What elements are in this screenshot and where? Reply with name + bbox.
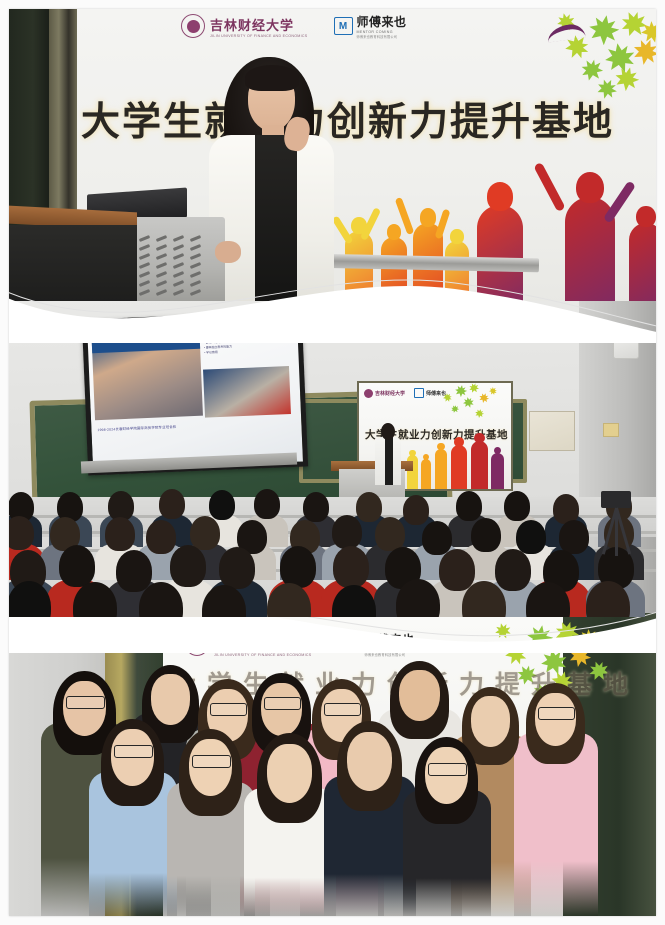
- group-member-face: [267, 744, 312, 803]
- eyeglasses-icon: [66, 696, 105, 709]
- eyeglasses-icon: [114, 745, 153, 759]
- maple-leaf-icon: [474, 408, 485, 419]
- university-name-en: JILIN UNIVERSITY OF FINANCE AND ECONOMIC…: [210, 34, 308, 38]
- maple-leaf-icon: [454, 384, 468, 398]
- maple-leaf-icon: [493, 621, 513, 641]
- eyeglasses-icon: [324, 703, 362, 716]
- audience-member-head: [254, 489, 280, 519]
- partner-logo: M 师傅来也 MENTOR COMING 师傅来也教育科技有限公司: [334, 13, 407, 39]
- eyeglasses-icon: [192, 755, 231, 769]
- banner-logo-row: 吉林财经大学 JILIN UNIVERSITY OF FINANCE AND E…: [181, 13, 407, 39]
- maple-leaf-icon: [525, 623, 555, 653]
- panel2-university-name: 吉林财经大学: [375, 390, 405, 397]
- panel3-university-name-en: JILIN UNIVERSITY OF FINANCE AND ECONOMIC…: [214, 653, 312, 657]
- panel2-photo: • 做自己喜欢的工作• 要有正确的定位• 在工作中不断提升自己的能力• 要有广泛…: [9, 301, 656, 617]
- audience-member-head: [403, 495, 429, 525]
- partner-mark-icon: M: [334, 17, 353, 35]
- silhouette-head: [487, 182, 513, 211]
- audience-member-head: [439, 549, 475, 591]
- audience-member-head: [105, 517, 135, 551]
- panel3-partner-subtitle-cn: 师傅来也教育科技有限公司: [365, 652, 415, 657]
- panel2-speaker-head: [381, 423, 395, 440]
- slide-bullet-list: • 做自己喜欢的工作• 要有正确的定位• 在工作中不断提升自己的能力• 要有广泛…: [203, 321, 290, 356]
- audience-member-head: [209, 490, 235, 520]
- silhouette-head: [636, 206, 655, 227]
- audience-member-head: [471, 518, 501, 552]
- speaker-black-top: [255, 135, 297, 309]
- speaker-hand-lower: [215, 241, 241, 263]
- panel2-silhouette-head: [409, 450, 416, 457]
- photo-panel-group: 吉林财经大学 JILIN UNIVERSITY OF FINANCE AND E…: [9, 613, 656, 916]
- silhouette-head: [420, 208, 437, 227]
- panel2-partner-mark-icon: [414, 388, 424, 398]
- panel1-photo: 吉林财经大学 JILIN UNIVERSITY OF FINANCE AND E…: [9, 9, 656, 309]
- panel2-silhouette-head: [437, 443, 444, 450]
- group-member-face: [347, 732, 392, 791]
- panel3-partner-name-cn: 师傅来也: [365, 631, 415, 648]
- maple-leaf-icon: [501, 639, 532, 670]
- maple-leaf-icon: [487, 385, 498, 396]
- panel3-partner-mark-icon: M: [342, 635, 361, 653]
- video-camera-icon: [601, 491, 631, 508]
- audience-member-head: [146, 520, 176, 554]
- banner-headline: 大学生就业力创新力提升基地: [81, 101, 656, 145]
- panel3-photo: 吉林财经大学 JILIN UNIVERSITY OF FINANCE AND E…: [9, 613, 656, 916]
- audience-member-head: [516, 520, 546, 554]
- panel3-university-seal-icon: [185, 632, 209, 656]
- slide-caption: 1998-2024长春财经学院国际商贸学院专业班合影: [97, 424, 176, 432]
- audience-member-head: [559, 520, 589, 554]
- audience-member-head: [159, 489, 185, 519]
- audience-member-head: [303, 492, 329, 522]
- panel2-silhouette-head: [474, 433, 484, 443]
- audience-member-head: [116, 550, 152, 592]
- maple-leaf-icon: [575, 625, 603, 653]
- audience-member-head: [333, 546, 369, 588]
- panel3-banner-logos: 吉林财经大学 JILIN UNIVERSITY OF FINANCE AND E…: [185, 631, 415, 657]
- audience-member-head: [456, 491, 482, 521]
- audience-member-head: [422, 521, 452, 555]
- panel2-wall-light-icon: [603, 423, 619, 437]
- photo-panel-speaker: 吉林财经大学 JILIN UNIVERSITY OF FINANCE AND E…: [9, 9, 656, 309]
- maple-leaf-icon: [551, 617, 583, 649]
- panel2-partner-name: 师傅来也: [426, 390, 446, 397]
- university-seal-icon: [181, 14, 205, 38]
- audience-member-head: [375, 517, 405, 551]
- panel2-audience: [9, 471, 656, 617]
- slide-photo-banner: [92, 338, 200, 354]
- audience-member-head: [280, 546, 316, 588]
- eyeglasses-icon: [428, 763, 467, 777]
- eyeglasses-icon: [264, 697, 302, 710]
- eyeglasses-icon: [210, 703, 248, 716]
- panel2-wall-panel: [529, 411, 575, 451]
- maple-leaf-icon: [467, 381, 480, 394]
- audience-member-head: [356, 492, 382, 522]
- photo-panel-lecture-hall: • 做自己喜欢的工作• 要有正确的定位• 在工作中不断提升自己的能力• 要有广泛…: [9, 301, 656, 617]
- panel3-university-logo: 吉林财经大学 JILIN UNIVERSITY OF FINANCE AND E…: [185, 632, 312, 657]
- panel2-silhouette-head: [454, 437, 464, 447]
- audience-member-head: [495, 549, 531, 591]
- audience-member-head: [219, 547, 255, 589]
- audience-member-head: [332, 515, 362, 549]
- silhouette-head: [450, 229, 463, 244]
- silhouette-figure: [445, 241, 469, 309]
- maple-leaf-icon: [566, 642, 594, 670]
- panel3-partner-logo: M 师傅来也 MENTOR COMING 师傅来也教育科技有限公司: [342, 631, 415, 657]
- silhouette-head: [576, 172, 604, 203]
- audience-member-head: [9, 516, 34, 550]
- speaker-fringe: [245, 65, 299, 91]
- partner-name-cn: 师傅来也: [357, 13, 407, 30]
- maple-leaf-icon: [450, 404, 461, 415]
- partner-subtitle-cn: 师傅来也教育科技有限公司: [357, 34, 407, 39]
- slide-secondary-photo: [203, 366, 291, 418]
- university-logo: 吉林财经大学 JILIN UNIVERSITY OF FINANCE AND E…: [181, 14, 308, 38]
- camera-tripod-icon: [595, 491, 639, 561]
- photo-collage: 吉林财经大学 JILIN UNIVERSITY OF FINANCE AND E…: [0, 0, 665, 925]
- maple-leaf-icon: [462, 396, 475, 409]
- silhouette-figure: [381, 237, 407, 309]
- eyeglasses-icon: [538, 707, 576, 720]
- panel2-wall-speaker-icon: [613, 327, 639, 359]
- panel1-desk-front: [9, 225, 137, 309]
- silhouette-figure: [629, 223, 656, 309]
- projection-screen: • 做自己喜欢的工作• 要有正确的定位• 在工作中不断提升自己的能力• 要有广泛…: [82, 310, 308, 475]
- panel2-silhouette-head: [423, 454, 429, 460]
- audience-member-head: [396, 579, 440, 617]
- university-name-cn: 吉林财经大学: [210, 15, 308, 34]
- panel2-banner-logos: 吉林财经大学 师傅来也: [364, 388, 446, 398]
- audience-member-head: [59, 545, 95, 587]
- silhouette-head: [387, 224, 402, 240]
- panel3-university-name-cn: 吉林财经大学: [214, 632, 312, 653]
- audience-member-head: [170, 545, 206, 587]
- slide-group-photo: [92, 338, 203, 420]
- panel2-university-seal-icon: [364, 389, 373, 398]
- collage-frame: 吉林财经大学 JILIN UNIVERSITY OF FINANCE AND E…: [9, 9, 656, 916]
- maple-leaf-icon: [478, 392, 491, 405]
- audience-member-head: [504, 491, 530, 521]
- audience-member-head: [190, 516, 220, 550]
